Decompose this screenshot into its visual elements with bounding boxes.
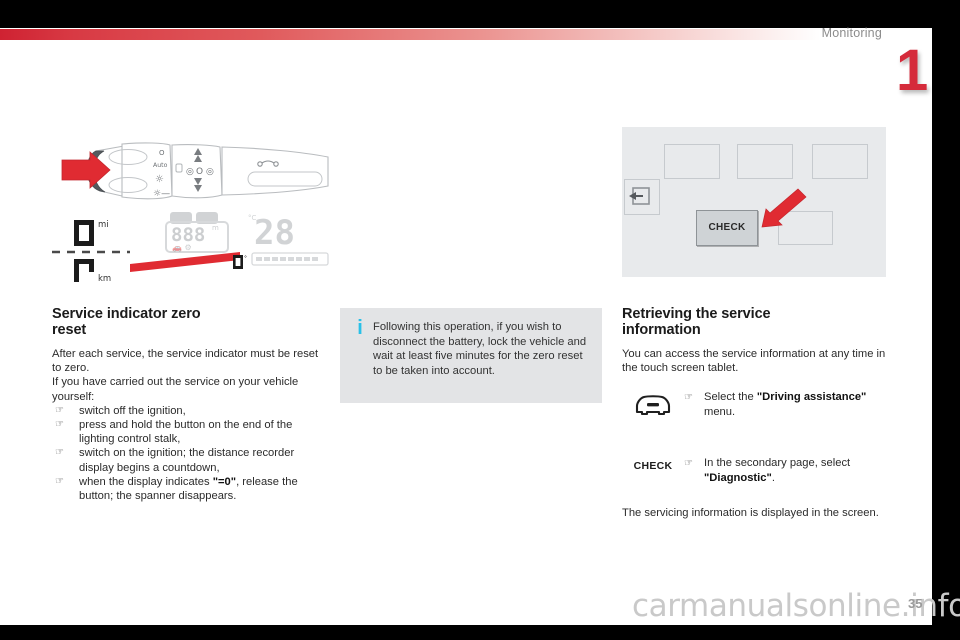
tablet-tile-1[interactable] <box>664 144 720 179</box>
cluster-right-display: 28 °C <box>248 213 328 265</box>
step-diagnostic: CHECK ☞ In the secondary page, select "D… <box>622 446 890 488</box>
red-pointer-wedge <box>130 252 240 272</box>
svg-text:°: ° <box>244 255 247 262</box>
right-paragraph-1: You can access the service information a… <box>622 347 890 375</box>
back-arrow-icon <box>625 180 657 212</box>
left-heading-line1: Service indicator zero <box>52 306 201 322</box>
svg-text:Auto: Auto <box>153 162 168 169</box>
pointing-hand-icon: ☞ <box>684 392 693 403</box>
right-column-text: Retrieving the service information You c… <box>622 307 890 521</box>
countdown-zero: ° <box>233 255 247 269</box>
chapter-number: 1 <box>896 42 928 100</box>
step-emphasis: "=0" <box>213 476 236 488</box>
cluster-center-display: 888 m 🚗 ⚙ <box>166 212 228 252</box>
step-text-before: when the display indicates <box>79 476 213 488</box>
page-frame-top <box>0 0 960 28</box>
check-icon-label: CHECK <box>634 460 673 472</box>
right-paragraph-2: The servicing information is displayed i… <box>622 506 890 520</box>
list-item: ☞ press and hold the button on the end o… <box>52 418 322 446</box>
page-number: 35 <box>908 596 922 611</box>
page-frame-bottom <box>0 625 960 640</box>
right-heading-line1: Retrieving the service <box>622 306 771 322</box>
svg-text:O: O <box>159 149 165 157</box>
left-paragraph-1: After each service, the service indicato… <box>52 347 322 375</box>
step-text-before: Select the <box>704 391 757 403</box>
step-text: switch on the ignition; the distance rec… <box>79 447 294 473</box>
left-heading-line2: reset <box>52 322 86 338</box>
tablet-tile-2[interactable] <box>737 144 793 179</box>
svg-text:☼—: ☼— <box>153 189 170 199</box>
stalk-and-cluster-svg: O Auto ☼ ☼— ◎ O ◎ <box>52 126 330 286</box>
tablet-tile-3[interactable] <box>812 144 868 179</box>
left-paragraph-2: If you have carried out the service on y… <box>52 375 322 403</box>
reset-steps-list: ☞ switch off the ignition, ☞ press and h… <box>52 404 322 503</box>
step-text-after: . <box>772 472 775 484</box>
left-heading: Service indicator zero reset <box>52 307 322 338</box>
step-driving-assistance: ☞ Select the "Driving assistance" menu. <box>622 390 890 432</box>
red-pointer-arrow-check <box>740 187 810 237</box>
manual-page: Monitoring 1 O Auto ☼ ☼— <box>0 0 960 640</box>
check-text-icon: CHECK <box>626 448 680 474</box>
step-text-before: In the secondary page, select <box>704 457 850 469</box>
right-heading: Retrieving the service information <box>622 307 890 338</box>
figure-tablet-check-screen: CHECK <box>622 127 886 277</box>
svg-text:◎: ◎ <box>206 167 214 177</box>
svg-text:◎: ◎ <box>186 167 194 177</box>
svg-text:🚗 ⚙: 🚗 ⚙ <box>172 243 192 252</box>
figure-lighting-stalk: O Auto ☼ ☼— ◎ O ◎ <box>52 126 330 286</box>
step-text-after: menu. <box>704 406 735 418</box>
svg-text:O: O <box>196 167 203 177</box>
pointing-hand-icon: ☞ <box>684 458 693 469</box>
list-item: ☞ switch off the ignition, <box>52 404 322 418</box>
info-i-icon: i <box>353 318 367 338</box>
step-text: In the secondary page, select "Diagnosti… <box>704 446 890 485</box>
svg-text:☼: ☼ <box>155 174 164 185</box>
pointing-hand-icon: ☞ <box>55 446 64 460</box>
pointing-hand-icon: ☞ <box>55 418 64 432</box>
page-frame-right <box>932 0 960 640</box>
pointing-hand-icon: ☞ <box>55 475 64 489</box>
step-text: Select the "Driving assistance" menu. <box>704 390 890 419</box>
unit-mi-label: mi <box>98 220 109 230</box>
info-callout-text: Following this operation, if you wish to… <box>373 320 589 378</box>
step-text: press and hold the button on the end of … <box>79 419 292 445</box>
left-column-text: Service indicator zero reset After each … <box>52 307 322 503</box>
step-emphasis: "Driving assistance" <box>757 391 866 403</box>
svg-text:28: 28 <box>254 213 295 253</box>
svg-text:°C: °C <box>248 214 257 222</box>
right-heading-line2: information <box>622 322 701 338</box>
step-emphasis: "Diagnostic" <box>704 472 772 484</box>
list-item: ☞ when the display indicates "=0", relea… <box>52 475 322 503</box>
page-section-title: Monitoring <box>822 26 882 40</box>
info-callout: i Following this operation, if you wish … <box>340 308 602 403</box>
header-gradient-rule <box>0 29 932 40</box>
unit-km-label: km <box>98 274 111 284</box>
list-item: ☞ switch on the ignition; the distance r… <box>52 446 322 474</box>
car-front-icon <box>626 392 680 423</box>
step-text: switch off the ignition, <box>79 405 186 417</box>
pointing-hand-icon: ☞ <box>55 404 64 418</box>
tablet-back-button[interactable] <box>624 179 660 215</box>
svg-text:m: m <box>212 224 219 232</box>
